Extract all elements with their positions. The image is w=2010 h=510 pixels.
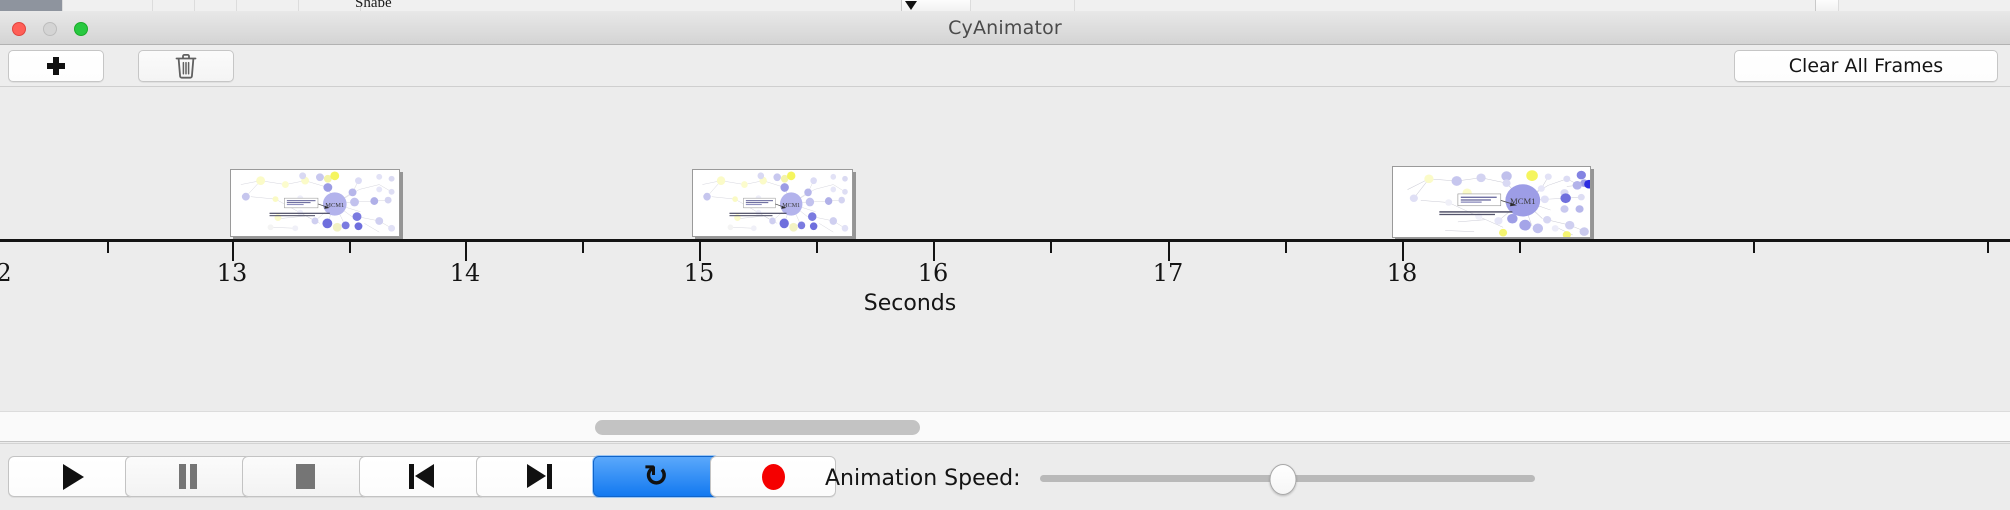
add-frame-button[interactable] [8, 50, 104, 82]
clear-all-frames-button[interactable]: Clear All Frames [1734, 50, 1998, 82]
loop-icon: ↻ [643, 462, 668, 492]
play-button[interactable] [8, 456, 134, 497]
delete-frame-button[interactable] [138, 50, 234, 82]
window-title: CyAnimator [0, 17, 2010, 39]
axis-tick-label: 13 [217, 259, 248, 287]
horizontal-scrollbar[interactable] [0, 411, 2010, 442]
background-window-segment [298, 0, 362, 11]
titlebar: CyAnimator [0, 11, 2010, 45]
network-preview-wide: MCM1 [231, 170, 399, 236]
svg-text:MCM1: MCM1 [782, 202, 800, 209]
frame-thumbnail[interactable]: MCM1 [1392, 166, 1591, 238]
axis-tick-minor [107, 242, 109, 253]
skip-back-icon [409, 464, 435, 489]
axis-tick-minor [816, 242, 818, 253]
animation-speed-label: Animation Speed: [825, 466, 1021, 491]
stop-button[interactable] [242, 456, 368, 497]
axis-tick-label: 15 [684, 259, 715, 287]
axis-tick-label: 18 [1387, 259, 1418, 287]
timeline-axis [0, 239, 2010, 242]
background-window-segment [152, 0, 196, 11]
axis-tick-minor [1285, 242, 1287, 253]
axis-tick-minor [1753, 242, 1755, 253]
svg-text:MCM1: MCM1 [325, 202, 344, 209]
clear-all-frames-label: Clear All Frames [1789, 55, 1943, 77]
playback-toolbar: ↻ Animation Speed: [0, 443, 2010, 510]
skip-forward-icon [526, 464, 552, 489]
first-frame-button[interactable] [359, 456, 485, 497]
animation-speed-slider[interactable] [1040, 475, 1535, 482]
axis-tick-label: 14 [450, 259, 481, 287]
background-window-segment [194, 0, 238, 11]
axis-tick-minor [582, 242, 584, 253]
background-window-segment [1074, 0, 1816, 11]
timeline-panel[interactable]: MCM1 [0, 87, 2010, 411]
stop-icon [296, 464, 315, 489]
background-window-segment [236, 0, 300, 11]
record-button[interactable] [710, 456, 836, 497]
network-preview-close: MCM1 [1393, 167, 1590, 237]
loop-button[interactable]: ↻ [593, 456, 719, 497]
background-window-segment [1838, 0, 2010, 11]
frame-thumbnail[interactable]: MCM1 [692, 169, 853, 237]
background-window-segment [360, 0, 902, 11]
last-frame-button[interactable] [476, 456, 602, 497]
cyanimator-window: Shape CyAnimator Clear All Frames [0, 0, 2010, 510]
scrollbar-thumb[interactable] [595, 420, 920, 435]
background-window-label: Shape [355, 0, 392, 7]
background-window-segment [970, 0, 1076, 11]
animation-speed-slider-thumb[interactable] [1269, 464, 1296, 495]
axis-tick-label: 17 [1153, 259, 1184, 287]
axis-tick-minor [349, 242, 351, 253]
axis-tick-label: 2 [0, 259, 12, 287]
trash-icon [174, 53, 198, 79]
play-icon [63, 464, 84, 490]
axis-tick-minor [1987, 242, 1989, 253]
svg-text:MCM1: MCM1 [1510, 197, 1536, 206]
background-window-segment [62, 0, 154, 11]
pause-button[interactable] [125, 456, 251, 497]
toolbar: Clear All Frames [0, 45, 2010, 87]
frame-thumbnail[interactable]: MCM1 [230, 169, 400, 237]
axis-tick-minor [1050, 242, 1052, 253]
network-preview-wide: MCM1 [693, 170, 852, 236]
plus-icon [46, 56, 66, 76]
axis-tick-label: 16 [918, 259, 949, 287]
axis-title: Seconds [864, 291, 956, 316]
axis-tick-minor [1519, 242, 1521, 253]
background-window-dark-segment [0, 0, 62, 11]
pause-icon [178, 464, 198, 489]
record-icon [762, 464, 785, 490]
background-window-cursor-icon [905, 1, 917, 10]
